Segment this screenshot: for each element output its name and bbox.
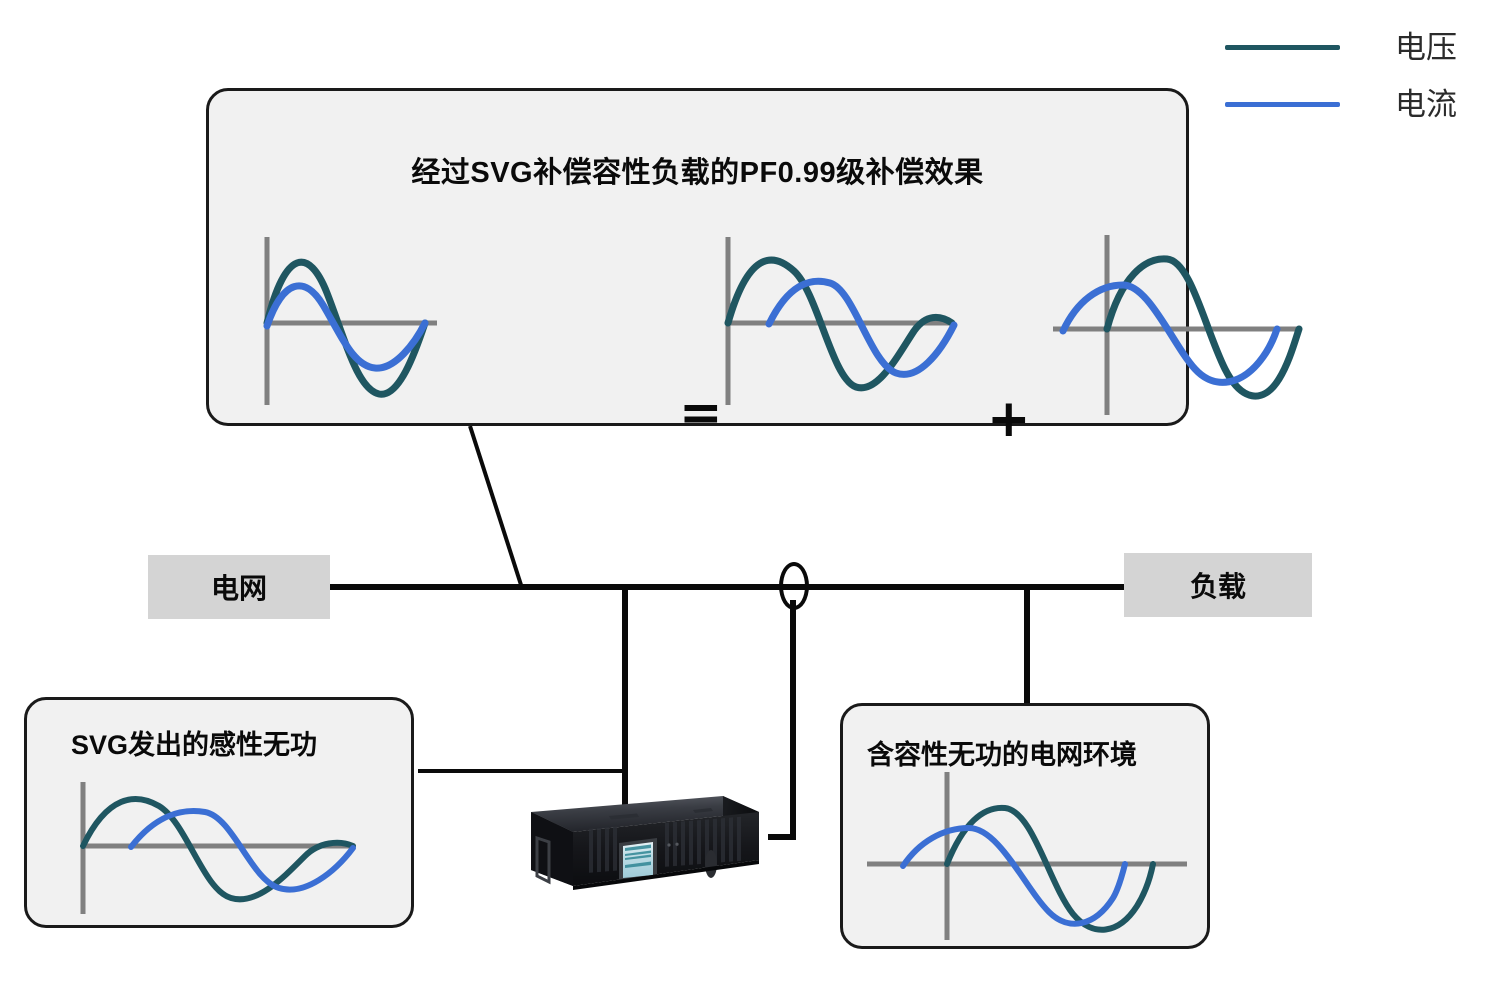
panel-title: 含容性无功的电网环境 xyxy=(867,733,1137,772)
load-node-label: 负载 xyxy=(1124,553,1312,617)
svg-inductive-panel: SVG发出的感性无功 xyxy=(24,697,414,928)
legend-item-current: 电流 xyxy=(1225,85,1480,125)
waveform-plot-compensated xyxy=(239,231,449,411)
svg-rack-device xyxy=(497,786,767,896)
load-feeder-line xyxy=(1024,587,1030,706)
plus-operator: + xyxy=(987,393,1031,445)
legend-item-label: 电流 xyxy=(1395,85,1457,125)
grid-node-label: 电网 xyxy=(148,555,330,619)
waveform-plot-inductive-detail xyxy=(53,778,373,918)
ct-ellipse-icon xyxy=(779,562,809,610)
legend: 电压 电流 xyxy=(1225,10,1480,120)
diagram-canvas: 电压 电流 电网 负载 xyxy=(0,0,1487,986)
waveform-plot-inductive xyxy=(714,231,964,411)
compensation-result-panel: 经过SVG补偿容性负载的PF0.99级补偿效果 = + xyxy=(206,88,1189,426)
ct-sense-line xyxy=(790,600,796,840)
line-swatch-icon xyxy=(1225,102,1340,107)
svg-output-branch xyxy=(418,769,625,773)
line-swatch-icon xyxy=(1225,45,1340,50)
waveform-plot-capacitive-detail xyxy=(857,768,1201,944)
waveform-plot-capacitive xyxy=(1049,229,1309,421)
panel-title: 经过SVG补偿容性负载的PF0.99级补偿效果 xyxy=(209,149,1186,191)
callout-leader-line xyxy=(440,420,560,600)
legend-item-voltage: 电压 xyxy=(1225,28,1480,68)
legend-item-label: 电压 xyxy=(1395,28,1457,68)
svg-feeder-line xyxy=(622,587,628,807)
panel-title: SVG发出的感性无功 xyxy=(71,723,317,762)
ct-sense-line-leg xyxy=(768,834,796,840)
device-handle-icon xyxy=(705,850,717,878)
grid-capacitive-panel: 含容性无功的电网环境 xyxy=(840,703,1210,949)
